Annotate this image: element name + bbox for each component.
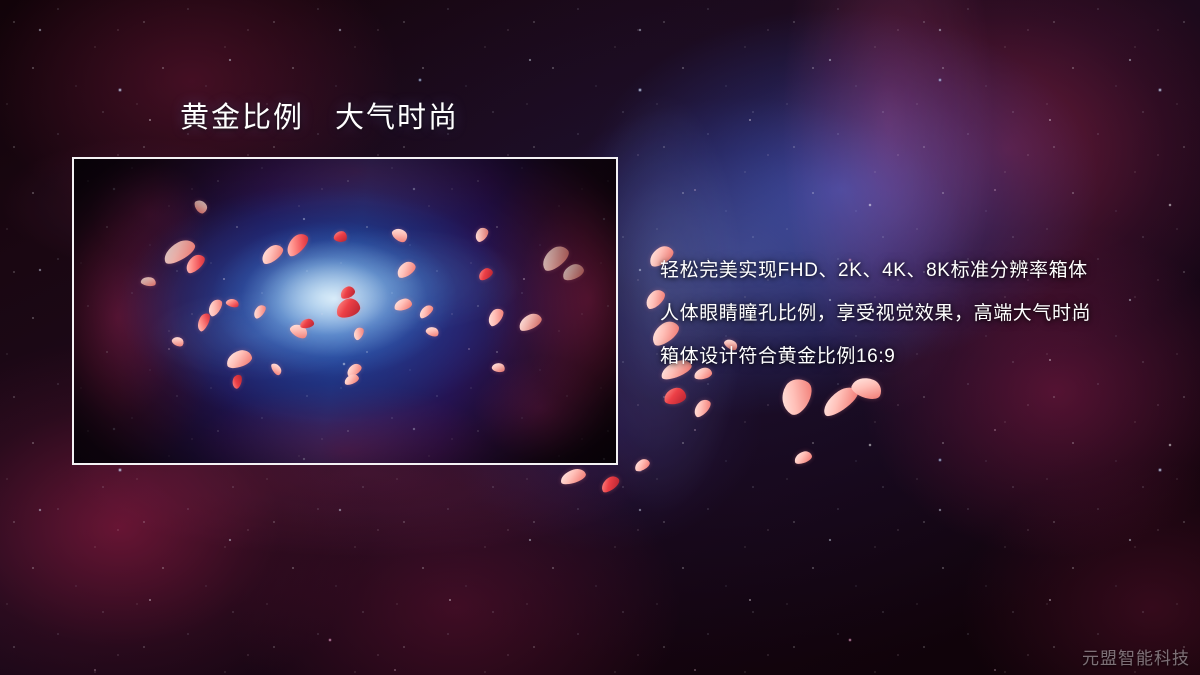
watermark: 元盟智能科技 (1082, 644, 1190, 669)
body-line: 人体眼睛瞳孔比例，享受视觉效果，高端大气时尚 (660, 292, 1180, 335)
presentation-slide: 黄金比例 大气时尚 (0, 0, 1200, 675)
image-vignette (74, 159, 616, 463)
nebula-image (74, 159, 616, 463)
body-line: 轻松完美实现FHD、2K、4K、8K标准分辨率箱体 (660, 249, 1180, 292)
body-text-block: 轻松完美实现FHD、2K、4K、8K标准分辨率箱体 人体眼睛瞳孔比例，享受视觉效… (660, 249, 1180, 378)
page-title: 黄金比例 大气时尚 (180, 101, 459, 136)
body-line: 箱体设计符合黄金比例16:9 (660, 335, 1180, 378)
framed-image (72, 157, 618, 465)
